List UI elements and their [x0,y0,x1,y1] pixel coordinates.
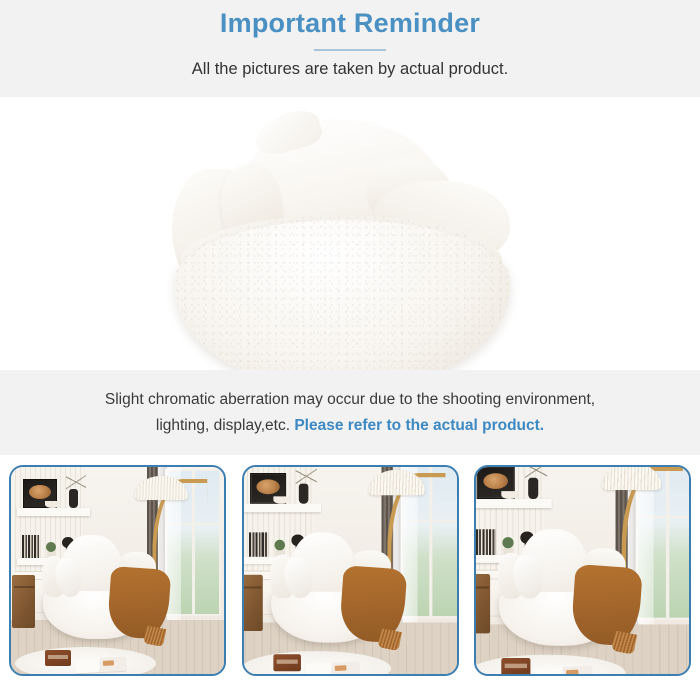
title-divider [314,49,386,51]
room-scene-2 [242,465,459,676]
wooden-tray [273,655,300,671]
notice-band: Slight chromatic aberration may occur du… [0,370,700,455]
wooden-tray [45,650,71,666]
wooden-tray [501,658,530,675]
notice-text: Slight chromatic aberration may occur du… [30,387,670,437]
thumbnail-strip [0,455,700,700]
thumbnail-3[interactable] [474,465,691,676]
shelf-upper [244,504,321,512]
page-subtitle: All the pictures are taken by actual pro… [192,60,508,80]
books [475,530,495,555]
side-table [12,575,35,629]
black-vase [298,483,308,504]
room-scene-3 [474,465,691,676]
page-title: Important Reminder [220,7,480,40]
side-table [474,574,491,634]
notice-line-1: Slight chromatic aberration may occur du… [105,391,595,408]
side-table [242,574,263,631]
books [248,533,267,557]
thumbnail-1[interactable] [9,465,226,676]
open-magazine [534,666,592,676]
room-scene-1 [11,467,224,674]
black-vase [528,477,539,499]
floor-lamp-shade [602,465,662,490]
black-vase [69,489,79,509]
shelf-upper [17,508,89,515]
thumbnail-2[interactable] [242,465,459,676]
chair-round-base [175,220,510,370]
dried-branches [296,466,316,486]
header-band: Important Reminder All the pictures are … [0,0,700,97]
open-magazine [304,662,359,676]
notice-emphasis: Please refer to the actual product. [294,417,544,434]
hero-stage [0,97,700,370]
notice-line-2-plain: lighting, display,etc. [156,417,294,434]
reminder-page: Important Reminder All the pictures are … [0,0,700,700]
dried-branches [66,472,85,491]
hero-product-image [0,97,700,370]
product-chair-illustration [0,97,700,370]
books [22,535,40,558]
shelf-upper [474,499,551,507]
